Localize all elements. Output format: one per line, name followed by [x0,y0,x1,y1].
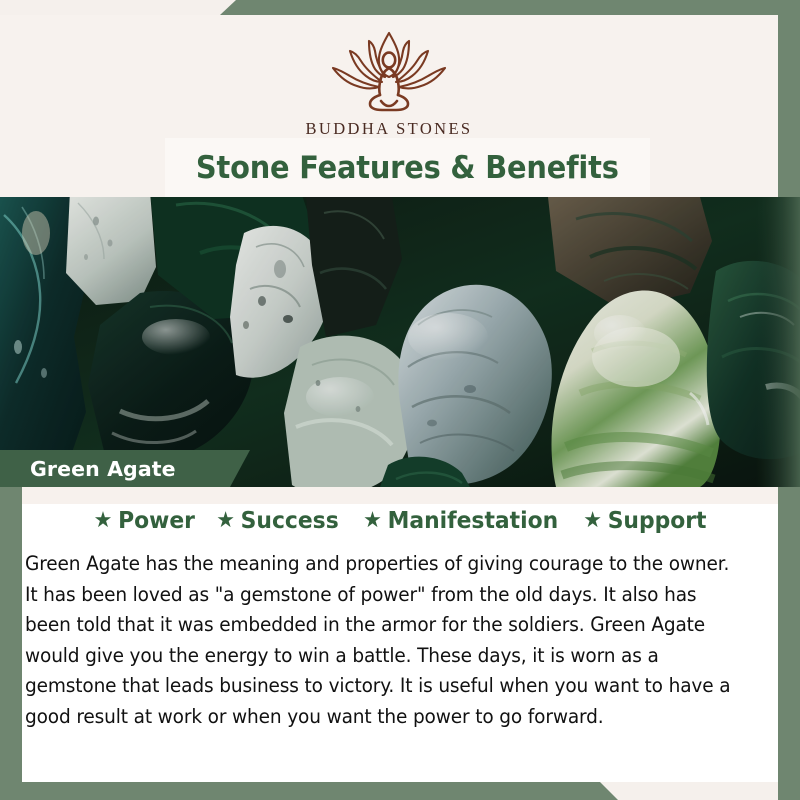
stone-name-label: Green Agate [30,457,176,481]
stone-photo [0,197,800,487]
brand-name: BUDDHA STONES [305,119,472,139]
keyword-item-support: ★ Support [583,508,706,534]
star-icon: ★ [583,510,602,532]
lotus-meditation-icon [325,27,453,113]
keyword-label: Manifestation [388,508,559,534]
page-title: Stone Features & Benefits [196,150,619,186]
keyword-item-success: ★ Success [217,508,339,534]
keyword-list: ★ Power ★ Success ★ Manifestation ★ Supp… [22,508,778,534]
star-icon: ★ [363,510,382,532]
star-icon: ★ [93,510,112,532]
infographic-card: BUDDHA STONES Stone Features & Benefits [0,0,800,800]
stone-name-tag: Green Agate [0,450,250,487]
header: BUDDHA STONES Stone Features & Benefits [0,15,778,197]
keyword-item-power: ★ Power [93,508,194,534]
stone-photo-artwork [0,197,800,487]
keyword-label: Power [118,508,195,534]
keyword-item-manifestation: ★ Manifestation [363,508,558,534]
keyword-label: Success [241,508,339,534]
decorative-bottom-band [0,782,800,800]
keyword-label: Support [607,508,706,534]
star-icon: ★ [217,510,236,532]
description-text: Green Agate has the meaning and properti… [25,549,743,732]
description-panel: ★ Power ★ Success ★ Manifestation ★ Supp… [22,487,778,782]
decorative-top-band [220,0,800,15]
header-title-bar: Stone Features & Benefits [165,138,650,197]
brand-logo: BUDDHA STONES [305,27,472,139]
